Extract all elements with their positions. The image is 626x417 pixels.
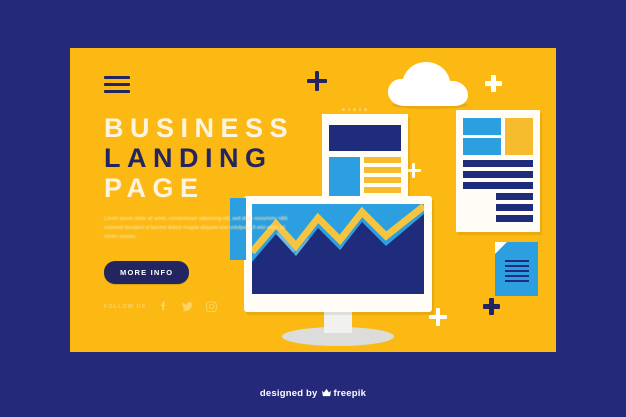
more-info-button[interactable]: MORE INFO <box>104 261 189 284</box>
credit-prefix: designed by <box>260 388 318 399</box>
menu-icon[interactable] <box>104 76 130 93</box>
hero-content: BUSINESS LANDING PAGE Lorem ipsum dolor … <box>104 76 314 313</box>
menu-bar <box>104 83 130 86</box>
twitter-icon[interactable] <box>181 300 194 313</box>
headline-line-2: LANDING <box>104 143 314 173</box>
freepik-credit: designed byfreepik <box>0 388 626 400</box>
headline-line-1: BUSINESS <box>104 113 314 143</box>
text-document-icon <box>495 242 538 296</box>
crown-icon <box>321 388 332 400</box>
follow-us-label: FOLLOW US <box>104 304 146 310</box>
cloud-icon <box>388 62 472 110</box>
menu-bar <box>104 76 130 79</box>
menu-bar <box>104 90 130 93</box>
plus-decoration <box>485 75 502 92</box>
page-title: BUSINESS LANDING PAGE <box>104 113 314 203</box>
facebook-icon[interactable] <box>157 300 170 313</box>
instagram-icon[interactable] <box>205 300 218 313</box>
headline-line-3: PAGE <box>104 173 314 203</box>
right-layout-panel <box>456 110 540 232</box>
brand-name: freepik <box>334 388 367 399</box>
plus-decoration <box>483 298 500 315</box>
monitor-stand <box>324 312 352 333</box>
plus-decoration <box>406 163 421 178</box>
screenshot-root: BUSINESS LANDING PAGE Lorem ipsum dolor … <box>0 0 626 417</box>
follow-us-row: FOLLOW US <box>104 300 314 313</box>
landing-page-card: BUSINESS LANDING PAGE Lorem ipsum dolor … <box>70 48 556 352</box>
hero-description: Lorem ipsum dolor sit amet, consectetuer… <box>104 215 290 242</box>
